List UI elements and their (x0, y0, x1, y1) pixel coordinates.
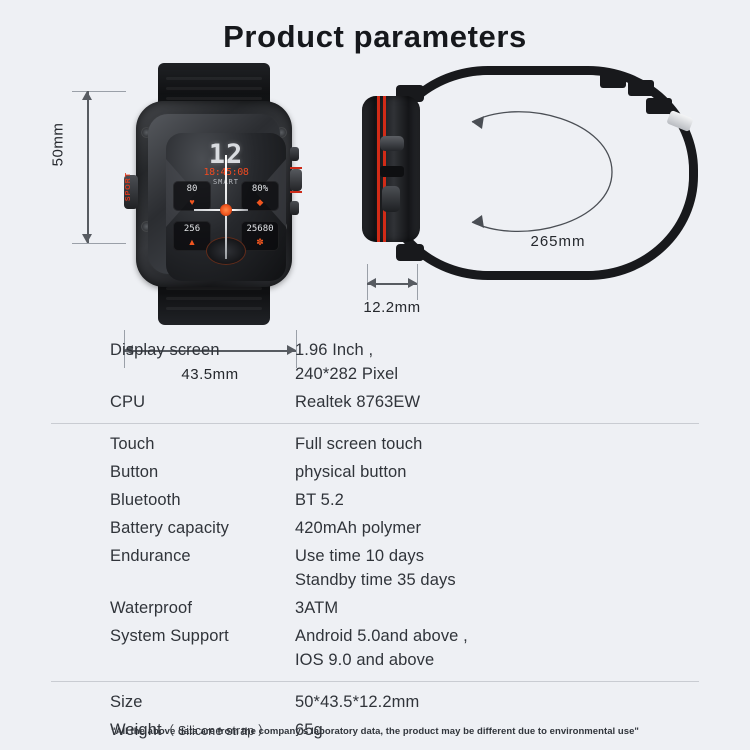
watch-front-image: SPORT 12 18:45:08 SMART 80 ♥ (128, 63, 300, 325)
spec-label: System Support (0, 624, 295, 648)
watch-bezel: 12 18:45:08 SMART 80 ♥ 80% ◆ 256 (148, 114, 280, 274)
spec-row: Touch Full screen touch (0, 430, 750, 458)
spec-value: BT 5.2 (295, 488, 750, 512)
spec-label: Touch (0, 432, 295, 456)
product-illustration: 50mm SPORT (0, 58, 750, 330)
side-sensor-pad (382, 186, 400, 212)
spec-group-features: Touch Full screen touch Button physical … (0, 424, 750, 681)
spec-value: physical button (295, 460, 750, 484)
watch-lug-bottom (396, 244, 424, 261)
arrow-up-icon (82, 91, 92, 100)
watchface-tile-battery: 80% ◆ (241, 181, 279, 211)
spec-value: 50*43.5*12.2mm (295, 690, 750, 714)
thickness-dimension-label: 12.2mm (332, 299, 452, 316)
spec-label: Size (0, 690, 295, 714)
spec-value: Realtek 8763EW (295, 390, 750, 414)
watchface-tile-steps: 25680 ✽ (241, 221, 279, 251)
footsteps-icon: ✽ (241, 237, 279, 247)
spec-label: Display screen (0, 338, 295, 362)
spec-label: Button (0, 460, 295, 484)
side-speaker-slot (380, 166, 404, 177)
height-dimension-label: 50mm (49, 123, 66, 167)
spec-label: CPU (0, 390, 295, 414)
battery-icon: ◆ (241, 197, 279, 207)
strap-keeper-1 (600, 72, 626, 88)
strap-circumference-label: 265mm (458, 233, 658, 250)
height-dim-tick-bottom (72, 243, 126, 244)
watchface-center-hub (220, 204, 232, 216)
spec-row: Waterproof 3ATM (0, 594, 750, 622)
tile-value: 80% (241, 184, 279, 194)
circumference-arrow-icon (442, 94, 642, 254)
spec-value: Use time 10 days Standby time 35 days (295, 544, 750, 592)
tile-value: 80 (173, 184, 211, 194)
spec-value: Full screen touch (295, 432, 750, 456)
spec-row: Battery capacity 420mAh polymer (0, 514, 750, 542)
bottom-pusher-button (290, 201, 299, 215)
spec-row: Size 50*43.5*12.2mm (0, 688, 750, 716)
height-dim-line (87, 91, 89, 243)
spec-label: Waterproof (0, 596, 295, 620)
spec-label: Battery capacity (0, 516, 295, 540)
spec-group-physical: Size 50*43.5*12.2mm Weight（ Silicone str… (0, 682, 750, 750)
spec-group-display: Display screen 1.96 Inch , 240*282 Pixel… (0, 330, 750, 423)
tile-value: 25680 (241, 224, 279, 234)
arrow-right-icon (408, 278, 417, 288)
spec-label: Bluetooth (0, 488, 295, 512)
watchface-tile-calories: 256 ▲ (173, 221, 211, 251)
specifications-table: Display screen 1.96 Inch , 240*282 Pixel… (0, 330, 750, 750)
spec-row: Button physical button (0, 458, 750, 486)
watch-side-view: 265mm 12.2mm (350, 58, 750, 330)
spec-row: System Support Android 5.0and above , IO… (0, 622, 750, 674)
page-title: Product parameters (0, 0, 750, 58)
spec-value: 1.96 Inch , 240*282 Pixel (295, 338, 750, 386)
watch-case: SPORT 12 18:45:08 SMART 80 ♥ (136, 101, 292, 287)
watch-front-view: 50mm SPORT (0, 58, 340, 330)
spec-row: CPU Realtek 8763EW (0, 388, 750, 416)
spec-row: Endurance Use time 10 days Standby time … (0, 542, 750, 594)
thickness-dim-tick-right (417, 264, 418, 300)
tile-value: 256 (173, 224, 211, 234)
side-crown-knob (380, 136, 404, 151)
spec-value: Android 5.0and above , IOS 9.0 and above (295, 624, 750, 672)
watchface-tile-heartrate: 80 ♥ (173, 181, 211, 211)
spec-row: Bluetooth BT 5.2 (0, 486, 750, 514)
sport-button-label: SPORT (125, 172, 132, 201)
arrow-down-icon (82, 234, 92, 243)
arrow-left-icon (367, 278, 376, 288)
height-dim-tick-top (72, 91, 126, 92)
strap-keeper-3 (646, 98, 672, 114)
watch-screen: 12 18:45:08 SMART 80 ♥ 80% ◆ 256 (166, 133, 286, 281)
spec-value: 3ATM (295, 596, 750, 620)
watch-crown (290, 169, 302, 191)
spec-value: 420mAh polymer (295, 516, 750, 540)
spec-label: Endurance (0, 544, 295, 568)
spec-row: Display screen 1.96 Inch , 240*282 Pixel (0, 336, 750, 388)
heart-icon: ♥ (173, 197, 211, 207)
flame-icon: ▲ (173, 237, 211, 247)
top-pusher-button (290, 147, 299, 161)
disclaimer-footnote: "All the above data are from the company… (0, 726, 750, 737)
